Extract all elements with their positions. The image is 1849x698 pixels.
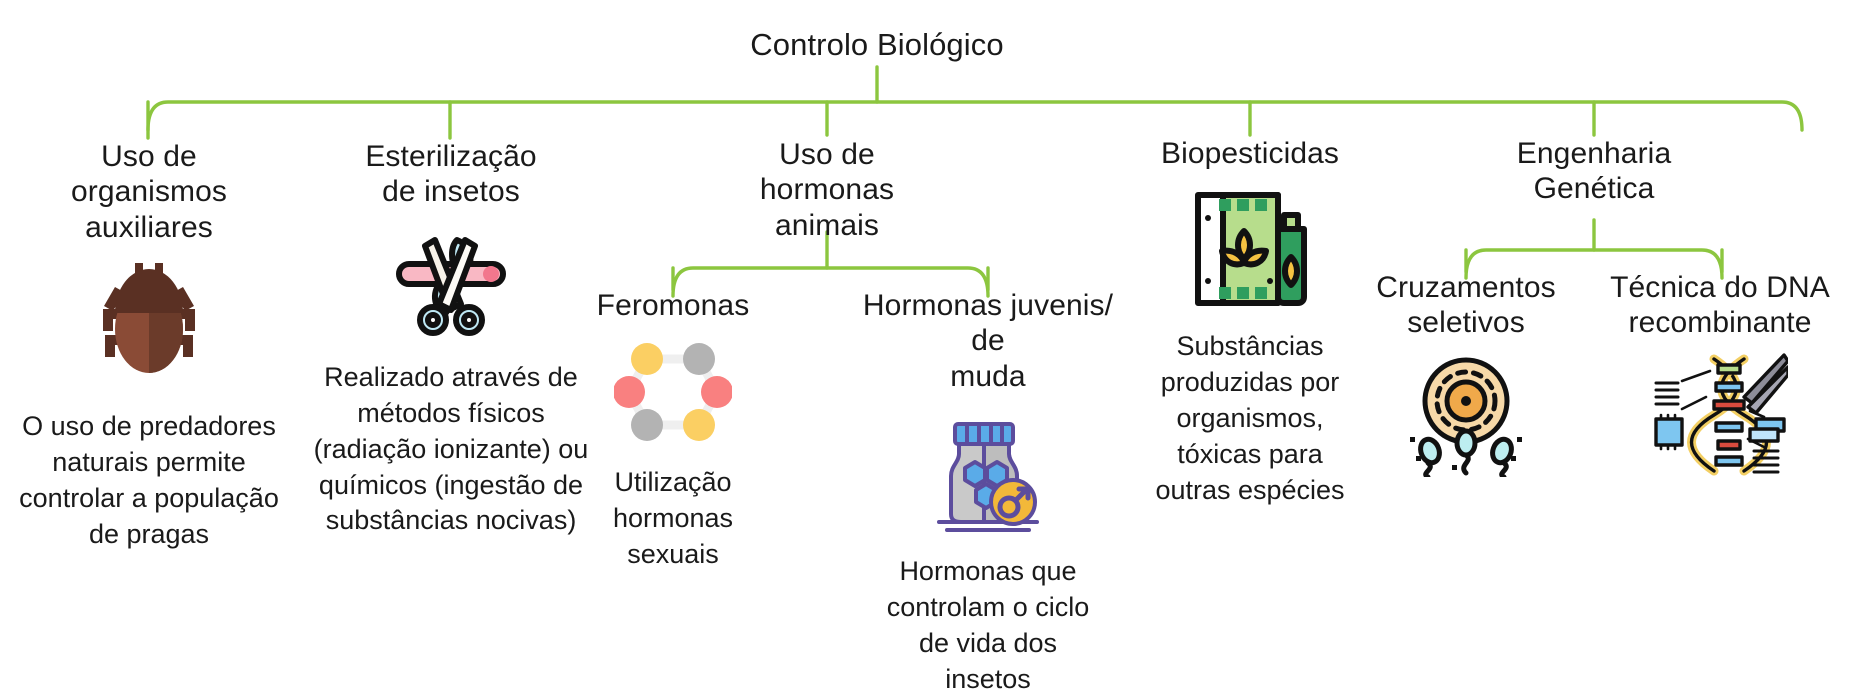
label-line: Uso de [10, 139, 288, 174]
subbranch-label-feromonas: Feromonas [553, 288, 793, 323]
branch-engenharia-genetica[interactable]: Engenharia Genética [1454, 136, 1734, 207]
label-line: Uso de [687, 137, 967, 172]
desc-line: O uso de predadores [10, 409, 288, 445]
desc-line: insetos [848, 662, 1128, 698]
branch-label-hormonas-animais: Uso de hormonas animais [687, 137, 967, 243]
fertilization-egg-sperm-icon-wrap [1346, 355, 1586, 477]
desc-line: Hormonas que [848, 554, 1128, 590]
label-line: recombinante [1592, 305, 1848, 340]
desc-line: sexuais [553, 537, 793, 573]
label-line: de insetos [306, 174, 596, 209]
branch-label-engenharia-genetica: Engenharia Genética [1454, 136, 1734, 207]
dna-helix-tweezers-icon-wrap [1592, 353, 1848, 477]
subbranch-dna-recombinante[interactable]: Técnica do DNA recombinante [1592, 270, 1848, 477]
label-line: hormonas [687, 172, 967, 207]
desc-line: naturais permite [10, 445, 288, 481]
label-line: Genética [1454, 171, 1734, 206]
desc-line: outras espécies [1110, 473, 1390, 509]
desc-line: controlar a população [10, 481, 288, 517]
branch-description-organismos-auxiliares: O uso de predadores naturais permite con… [10, 409, 288, 553]
branch-hormonas-animais[interactable]: Uso de hormonas animais [687, 137, 967, 243]
subbranch-cruzamentos-seletivos[interactable]: Cruzamentos seletivos [1346, 270, 1586, 477]
branch-organismos-auxiliares[interactable]: Uso de organismos auxiliares [10, 139, 288, 553]
label-line: Técnica do DNA [1592, 270, 1848, 305]
label-line: auxiliares [10, 210, 288, 245]
subbranch-hormonas-juvenis[interactable]: Hormonas juvenis/ de muda [848, 288, 1128, 698]
branch-label-esterilizacao-insetos: Esterilização de insetos [306, 139, 596, 210]
diagram-canvas: Controlo Biológico Uso de organismos aux… [0, 0, 1849, 642]
label-line: Engenharia [1454, 136, 1734, 171]
label-line: Esterilização [306, 139, 596, 174]
label-line: organismos [10, 174, 288, 209]
hormone-bottle-icon [929, 410, 1047, 532]
branch-label-organismos-auxiliares: Uso de organismos auxiliares [10, 139, 288, 245]
pheromone-molecule-icon [614, 333, 732, 451]
label-line: muda [848, 359, 1128, 394]
label-line: animais [687, 208, 967, 243]
desc-line: controlam o ciclo [848, 590, 1128, 626]
subbranch-feromonas[interactable]: Feromonas Utilização [553, 288, 793, 573]
desc-line: de vida dos [848, 626, 1128, 662]
sterilization-scissors-icon [387, 228, 515, 336]
biopesticide-bag-icon [1186, 185, 1314, 311]
fertilization-egg-sperm-icon [1404, 355, 1528, 477]
label-line: seletivos [1346, 305, 1586, 340]
root-title: Controlo Biológico [577, 27, 1177, 64]
subbranch-description-feromonas: Utilização hormonas sexuais [553, 465, 793, 573]
subbranch-label-cruzamentos-seletivos: Cruzamentos seletivos [1346, 270, 1586, 341]
beetle-icon [89, 257, 209, 387]
subbranch-description-hormonas-juvenis: Hormonas que controlam o ciclo de vida d… [848, 554, 1128, 698]
subbranch-label-hormonas-juvenis: Hormonas juvenis/ de muda [848, 288, 1128, 394]
desc-line: Utilização [553, 465, 793, 501]
beetle-icon-wrap [10, 257, 288, 387]
label-line: Hormonas juvenis/ de [848, 288, 1128, 359]
label-line: Cruzamentos [1346, 270, 1586, 305]
dna-helix-tweezers-icon [1652, 353, 1788, 477]
pheromone-molecule-icon-wrap [553, 333, 793, 451]
desc-line: de pragas [10, 517, 288, 553]
subbranch-label-dna-recombinante: Técnica do DNA recombinante [1592, 270, 1848, 341]
branch-label-biopesticidas: Biopesticidas [1110, 136, 1390, 171]
desc-line: hormonas [553, 501, 793, 537]
root-title-text: Controlo Biológico [577, 27, 1177, 64]
hormone-bottle-icon-wrap [848, 410, 1128, 532]
connector-main-bus [148, 102, 1802, 130]
